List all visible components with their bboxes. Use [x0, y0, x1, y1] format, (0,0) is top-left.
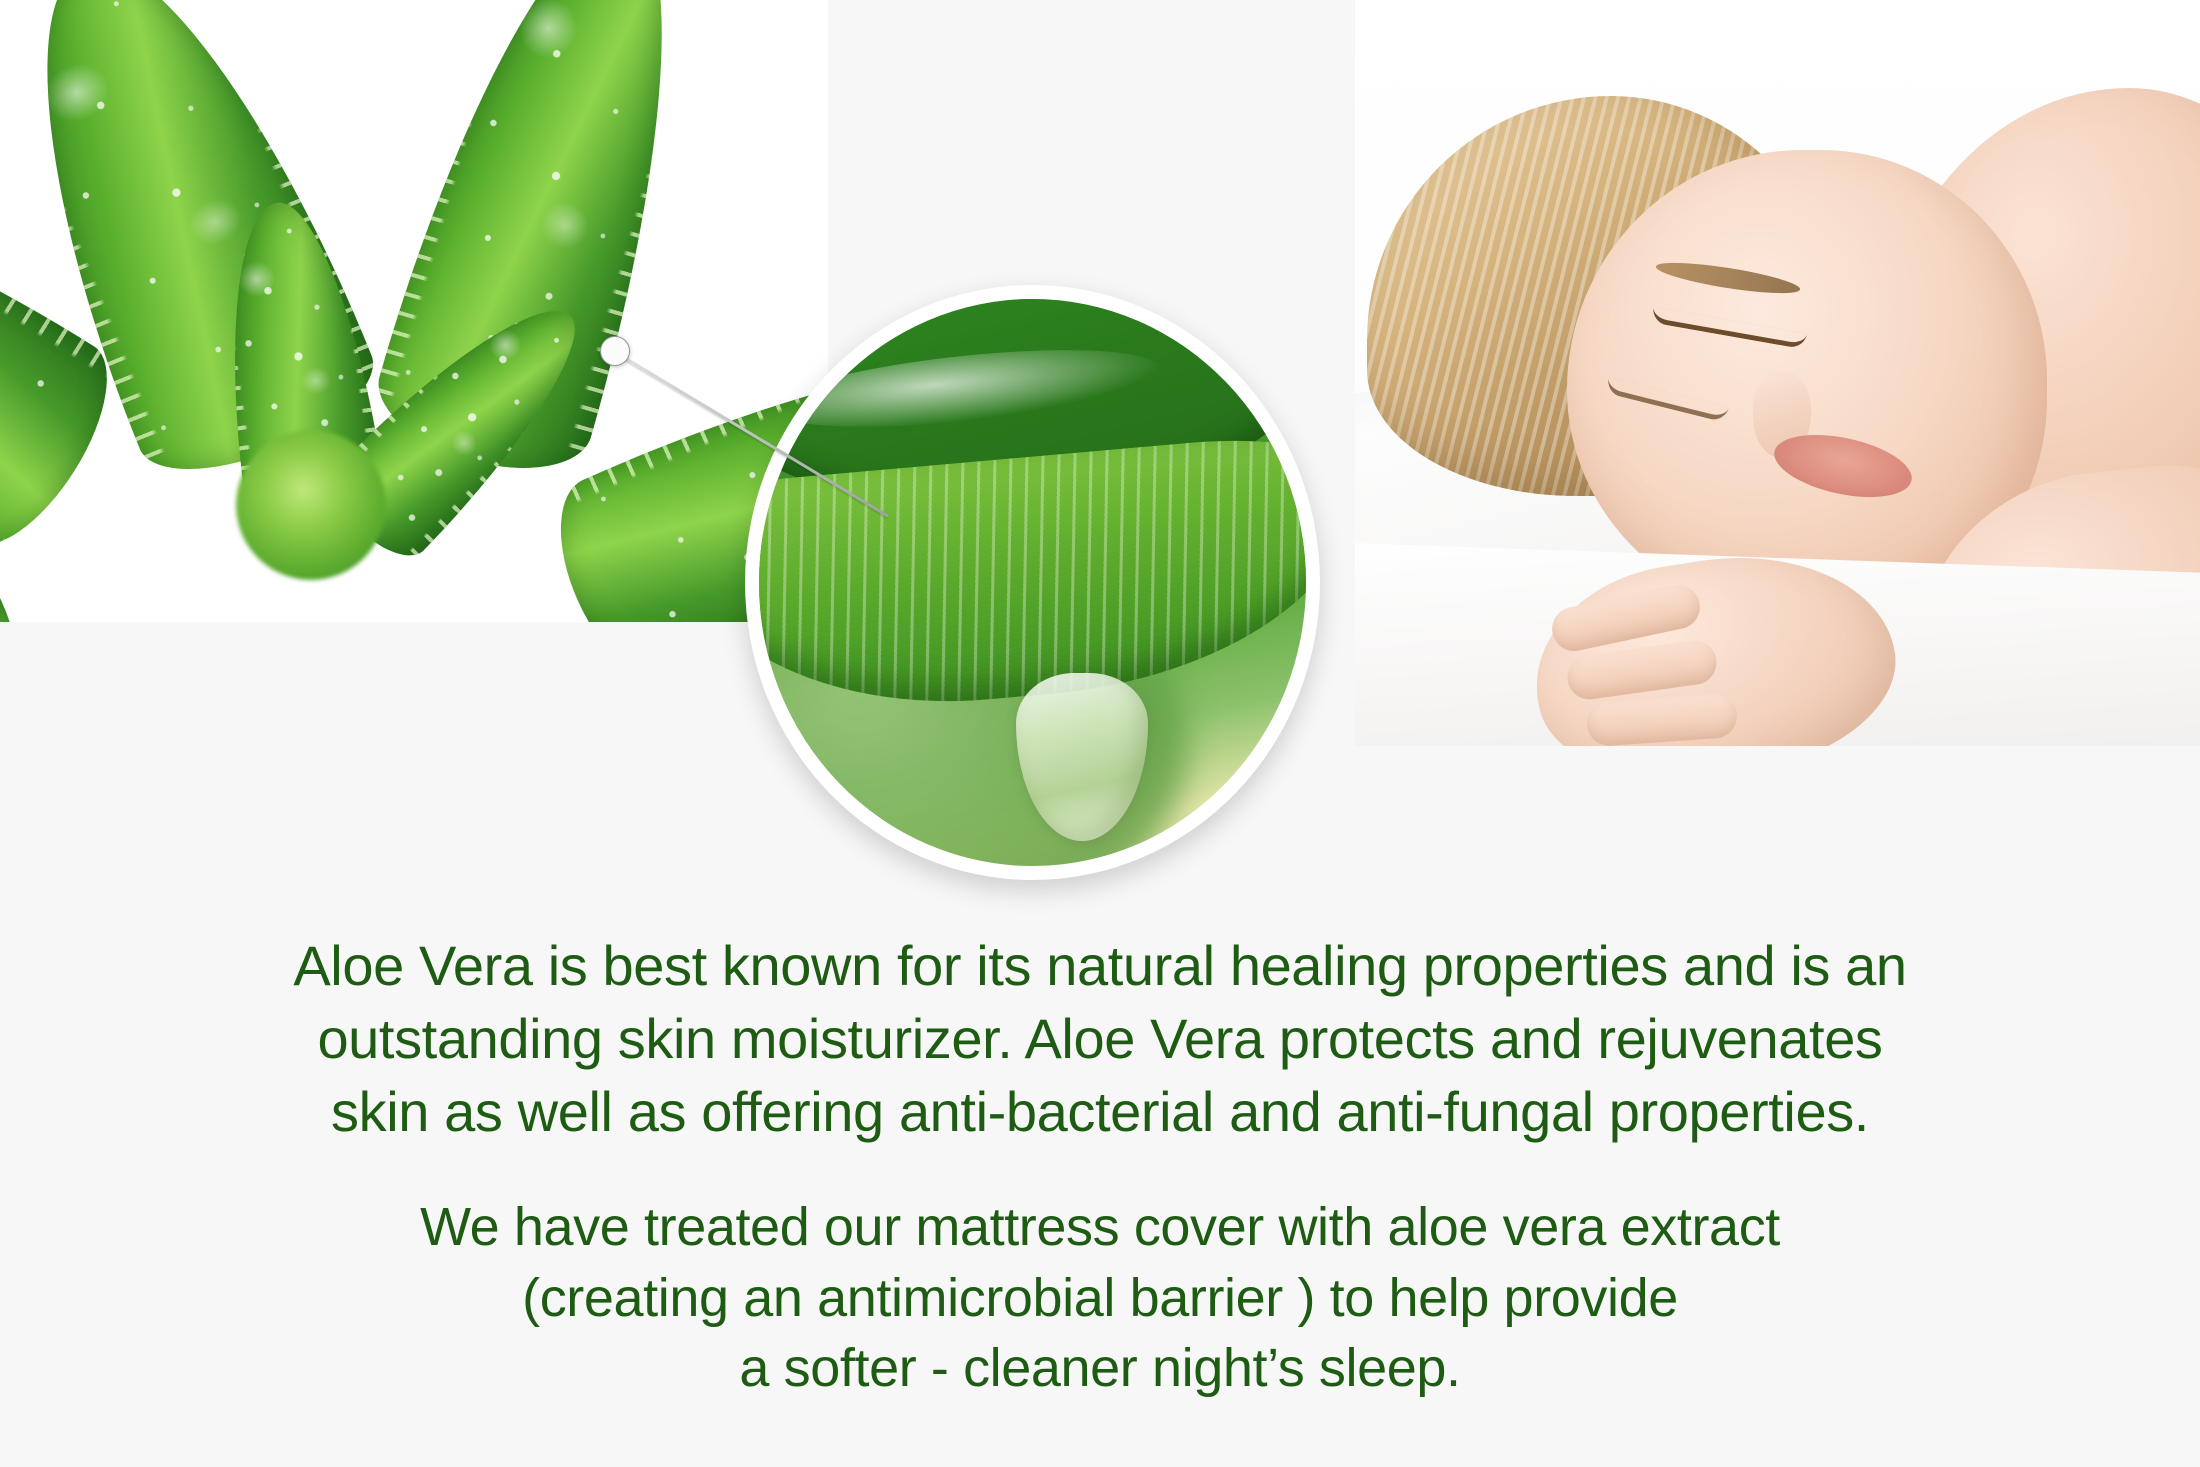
- sleeping-woman-scene: [1355, 0, 2200, 746]
- paragraph-line: skin as well as offering anti-bacterial …: [130, 1076, 2070, 1149]
- finger: [1586, 693, 1739, 746]
- aloe-vera-plant-photo: [0, 0, 828, 622]
- sleeping-woman-photo: [1355, 0, 2200, 746]
- paragraph-mattress-treatment: We have treated our mattress cover with …: [0, 1192, 2200, 1403]
- aloe-rosette-center: [236, 430, 386, 580]
- aloe-leaf-gel-flesh: [759, 429, 1306, 725]
- media-band: [0, 0, 2200, 900]
- paragraph-aloe-benefits: Aloe Vera is best known for its natural …: [0, 930, 2200, 1148]
- aloe-plant-scene: [0, 0, 828, 622]
- aloe-gel-magnifier-callout: [745, 285, 1320, 880]
- copy-block: Aloe Vera is best known for its natural …: [0, 930, 2200, 1403]
- aloe-leaf: [0, 538, 40, 622]
- water-droplets: [0, 538, 40, 622]
- paragraph-line: (creating an antimicrobial barrier ) to …: [180, 1263, 2020, 1333]
- paragraph-line: outstanding skin moisturizer. Aloe Vera …: [130, 1003, 2070, 1076]
- paragraph-line: We have treated our mattress cover with …: [180, 1192, 2020, 1262]
- paragraph-line: a softer - cleaner night’s sleep.: [180, 1333, 2020, 1403]
- magnifier-content: [759, 299, 1306, 866]
- paragraph-line: Aloe Vera is best known for its natural …: [130, 930, 2070, 1003]
- callout-pin: [600, 336, 630, 366]
- infographic-page: Aloe Vera is best known for its natural …: [0, 0, 2200, 1467]
